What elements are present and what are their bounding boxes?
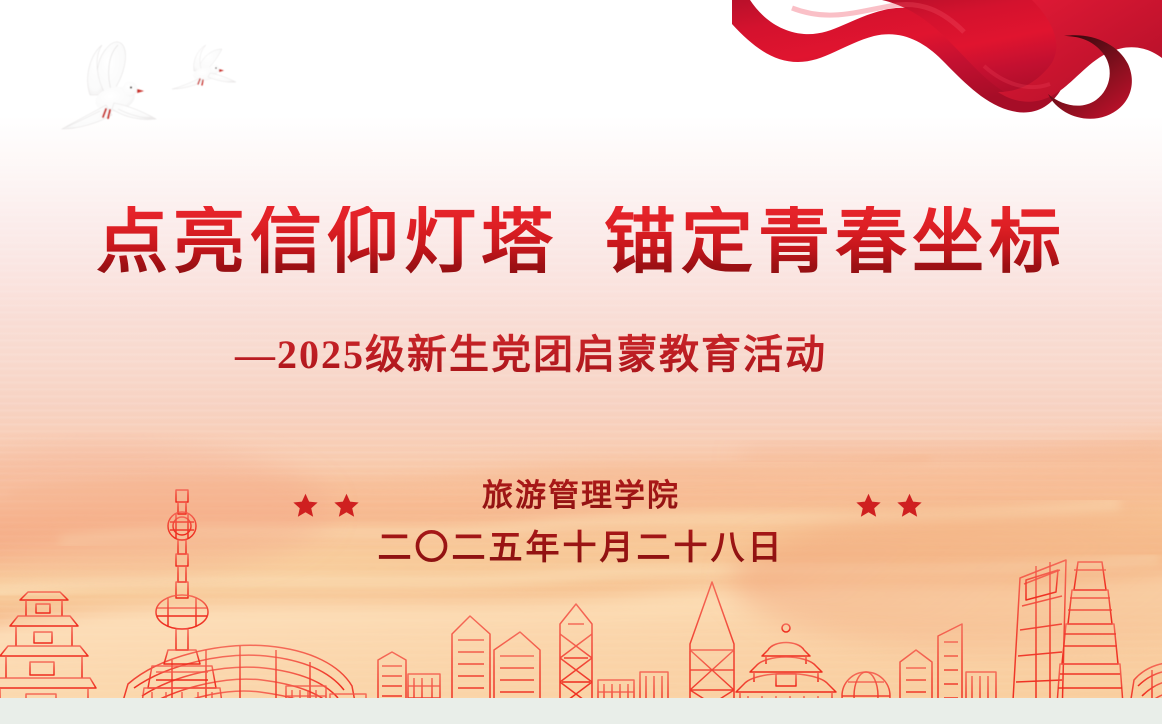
event-date: 二〇二五年十月二十八日 — [0, 520, 1162, 569]
page-title: 点亮信仰灯塔 锚定青春坐标 — [0, 206, 1162, 278]
poster-content: 点亮信仰灯塔 锚定青春坐标 —2025级新生党团启蒙教育活动 旅游管理学院 二〇… — [0, 0, 1162, 724]
poster-slide: 点亮信仰灯塔 锚定青春坐标 —2025级新生党团启蒙教育活动 旅游管理学院 二〇… — [0, 0, 1162, 724]
poster-subtitle: —2025级新生党团启蒙教育活动 — [0, 322, 1162, 380]
organization-name: 旅游管理学院 — [0, 470, 1162, 515]
